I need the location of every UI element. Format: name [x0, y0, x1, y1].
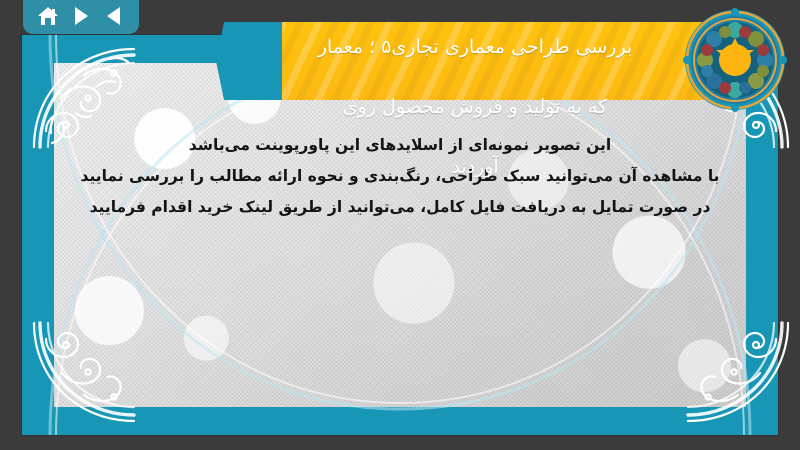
title-line-2: که به تولید و فروش محصول روی — [256, 92, 694, 122]
triangle-right-icon — [72, 6, 90, 26]
home-icon — [37, 6, 59, 26]
slide-title: بررسی طراحی معماری تجاری۵ ؛ معمار که به … — [216, 2, 728, 212]
presentation-viewer: این تصویر نمونه‌ای از اسلایدهای این پاور… — [0, 0, 800, 450]
title-line-3: آوردند — [256, 152, 694, 182]
triangle-left-icon — [105, 6, 123, 26]
title-line-1: بررسی طراحی معماری تجاری۵ ؛ معمار — [256, 32, 694, 62]
next-slide-button[interactable] — [68, 3, 94, 29]
slide-title-ribbon: بررسی طراحی معماری تجاری۵ ؛ معمار که به … — [216, 22, 728, 100]
home-button[interactable] — [35, 3, 61, 29]
persian-medallion-icon — [683, 8, 787, 112]
slide-navigation-bar[interactable] — [23, 0, 139, 34]
previous-slide-button[interactable] — [101, 3, 127, 29]
